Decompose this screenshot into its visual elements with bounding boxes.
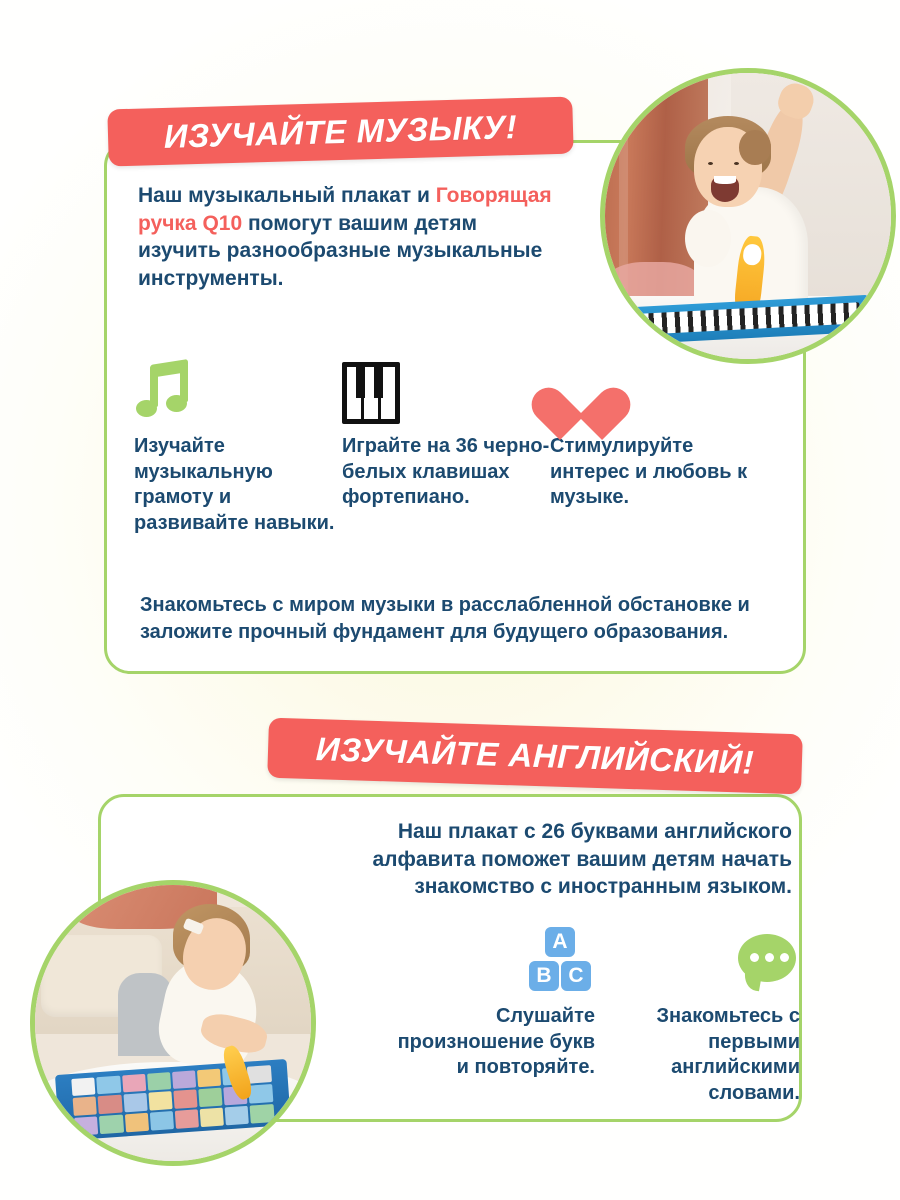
feature-love-music: Стимулируйте интерес и любовь к музыке. <box>550 352 758 536</box>
abc-blocks-icon: A B C <box>525 922 595 994</box>
music-note-icon <box>134 352 188 424</box>
english-banner-label: ИЗУЧАЙТЕ АНГЛИЙСКИЙ! <box>315 730 754 782</box>
english-photo-content <box>35 885 311 1161</box>
feature-label: Стимулируйте интерес и любовь к музыке. <box>550 434 758 511</box>
heart-icon <box>550 352 612 424</box>
english-section-banner: ИЗУЧАЙТЕ АНГЛИЙСКИЙ! <box>267 718 803 795</box>
music-feature-list: Изучайте музыкальную грамоту и развивайт… <box>134 352 804 536</box>
feature-label: Слушайте произношение букв и повторяйте. <box>390 1004 595 1081</box>
photo-eye-right <box>734 162 739 165</box>
speech-bubble-icon <box>738 922 800 994</box>
piano-keys-icon <box>342 352 400 424</box>
photo-mouth <box>711 176 740 202</box>
feature-label: Изучайте музыкальную грамоту и развивайт… <box>134 434 342 536</box>
photo-eye-left <box>708 162 713 165</box>
music-photo-content <box>605 73 891 359</box>
feature-music-literacy: Изучайте музыкальную грамоту и развивайт… <box>134 352 342 536</box>
photo-piano-keys <box>605 302 860 336</box>
music-intro-text: Наш музыкальный плакат и Говорящая ручка… <box>138 182 558 293</box>
english-section-photo <box>30 880 316 1166</box>
feature-letter-pronunciation: A B C Слушайте произношение букв и повто… <box>390 922 595 1106</box>
english-feature-list: A B C Слушайте произношение букв и повто… <box>390 922 800 1106</box>
feature-piano-keys: Играйте на 36 черно-белых клавишах форте… <box>342 352 550 536</box>
abc-block-a: A <box>544 926 576 958</box>
feature-label: Играйте на 36 черно-белых клавишах форте… <box>342 434 550 511</box>
english-intro-text: Наш плакат с 26 буквами английского алфа… <box>292 818 792 901</box>
abc-block-c: C <box>560 960 592 992</box>
music-intro-part1: Наш музыкальный плакат и <box>138 184 436 207</box>
feature-label: Знакомьтесь с первыми английскими словам… <box>595 1004 800 1106</box>
music-outro-text: Знакомьтесь с миром музыки в расслабленн… <box>140 592 790 645</box>
abc-block-b: B <box>528 960 560 992</box>
music-section-photo <box>600 68 896 364</box>
photo-sleeve <box>685 210 731 267</box>
feature-first-words: Знакомьтесь с первыми английскими словам… <box>595 922 800 1106</box>
photo-hair-bun <box>739 130 770 164</box>
music-banner-label: ИЗУЧАЙТЕ МУЗЫКУ! <box>163 108 517 156</box>
